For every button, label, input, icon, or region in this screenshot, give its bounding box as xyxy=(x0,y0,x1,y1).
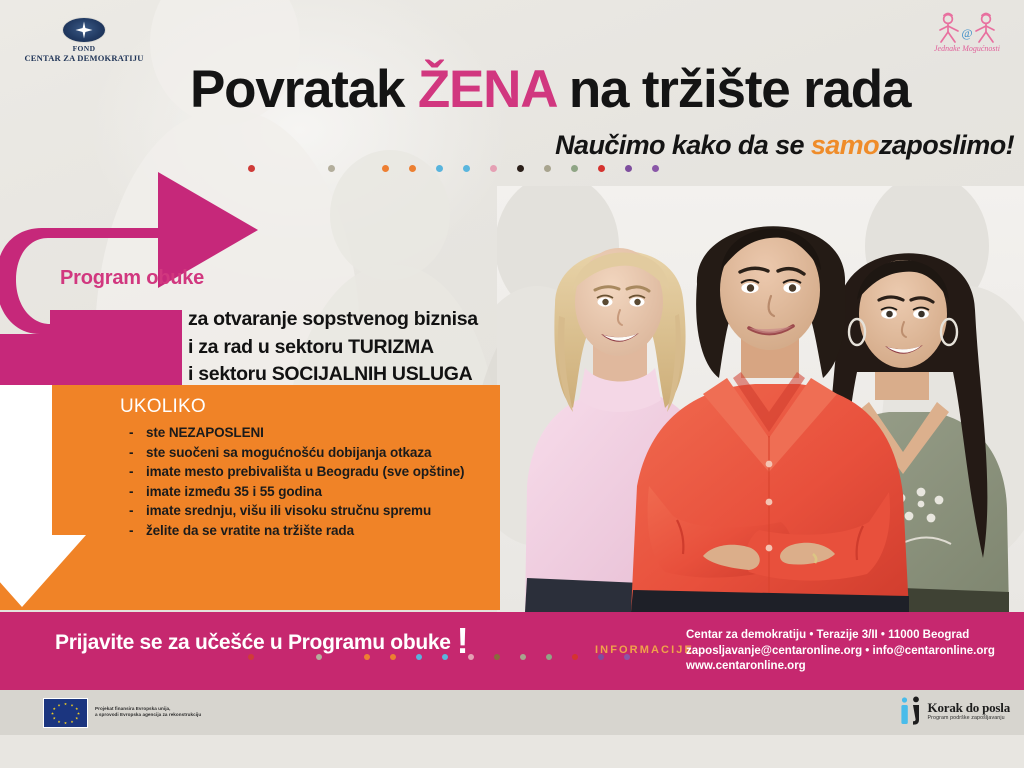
headline-pre: Povratak xyxy=(190,60,418,119)
program-obuke-label: Program obuke xyxy=(60,267,204,290)
contact-line-3: www.centaronline.org xyxy=(686,659,995,675)
magenta-accent-block xyxy=(50,310,182,390)
subhead-highlight: samo xyxy=(811,130,879,160)
logo-fcd-line1: FOND xyxy=(17,45,151,53)
korak-ij-icon xyxy=(898,696,924,726)
eu-star-icon xyxy=(58,720,61,723)
decorative-dot xyxy=(416,654,422,660)
decorative-dot xyxy=(494,654,500,660)
page-subtitle: Naučimo kako da se samozaposlimo! xyxy=(555,130,1014,161)
contact-line-2: zaposljavanje@centaronline.org • info@ce… xyxy=(686,644,995,660)
decorative-dot xyxy=(652,165,659,172)
eu-star-icon xyxy=(64,703,67,706)
star-emblem-icon xyxy=(62,17,106,43)
korak-title: Korak do posla xyxy=(928,701,1010,714)
decorative-dot xyxy=(463,165,470,172)
program-description-line-1: za otvaranje sopstvenog biznisa xyxy=(188,306,478,334)
logo-korak-do-posla: Korak do posla Program podrške zapošljav… xyxy=(898,694,1010,728)
svg-text:@: @ xyxy=(961,26,972,40)
program-description-line-2: i za rad u sektoru TURIZMA xyxy=(188,334,478,362)
decorative-dot xyxy=(571,165,578,172)
eu-star-icon xyxy=(53,707,56,710)
logo-jednake-mogucnosti: @ Jednake Mogućnosti xyxy=(928,12,1006,64)
decorative-dot xyxy=(625,165,632,172)
info-label: INFORMACIJE xyxy=(595,644,694,656)
decorative-dot-row-bottom xyxy=(248,654,630,660)
eu-star-icon xyxy=(51,712,54,715)
list-item: ste suočeni sa mogućnošću dobijanja otka… xyxy=(128,443,498,463)
decorative-dot xyxy=(572,654,578,660)
list-item: imate srednju, višu ili visoku stručnu s… xyxy=(128,501,498,521)
page-title: Povratak ŽENA na tržište rada xyxy=(190,62,1020,118)
list-item: imate između 35 i 55 godina xyxy=(128,482,498,502)
eu-funding-note: Projekat finansira Evropska unija, a spr… xyxy=(95,706,201,719)
contact-line-1: Centar za demokratiju • Terazije 3/II • … xyxy=(686,628,995,644)
subhead-pre: Naučimo kako da se xyxy=(555,130,811,160)
decorative-dot xyxy=(520,654,526,660)
conditions-list: ste NEZAPOSLENI ste suočeni sa mogućnošć… xyxy=(128,423,498,541)
eu-flag-icon xyxy=(43,698,88,728)
list-item: želite da se vratite na tržište rada xyxy=(128,521,498,541)
decorative-dot xyxy=(248,165,255,172)
eu-star-icon xyxy=(71,720,74,723)
decorative-dot xyxy=(544,165,551,172)
decorative-dot xyxy=(468,654,474,660)
eu-star-icon xyxy=(71,704,74,707)
two-figures-at-icon: @ xyxy=(928,12,1006,44)
decorative-dot xyxy=(517,165,524,172)
decorative-dot xyxy=(382,165,389,172)
decorative-dot xyxy=(490,165,497,172)
contact-info: Centar za demokratiju • Terazije 3/II • … xyxy=(686,628,995,675)
eu-star-icon xyxy=(58,704,61,707)
logo-fcd-line2: CENTAR ZA DEMOKRATIJU xyxy=(17,53,151,63)
logo-fond-centar-za-demokratiju: FOND CENTAR ZA DEMOKRATIJU xyxy=(17,17,151,61)
list-item: ste NEZAPOSLENI xyxy=(128,423,498,443)
headline-highlight: ŽENA xyxy=(418,60,556,119)
decorative-dot xyxy=(598,165,605,172)
eu-funding-line-2: a sprovodi Evropska agencija za rekonstr… xyxy=(95,712,201,718)
decorative-dot xyxy=(546,654,552,660)
logo-equal-label: Jednake Mogućnosti xyxy=(928,44,1006,53)
eu-star-icon xyxy=(53,717,56,720)
decorative-dot xyxy=(316,654,322,660)
subhead-post: zaposlimo! xyxy=(879,130,1014,160)
eu-star-icon xyxy=(77,712,80,715)
eu-star-icon xyxy=(64,722,67,725)
photo-three-women xyxy=(497,186,1024,612)
decorative-dot xyxy=(409,165,416,172)
decorative-dot xyxy=(390,654,396,660)
decorative-dot xyxy=(364,654,370,660)
decorative-dot xyxy=(328,165,335,172)
eu-star-icon xyxy=(75,707,78,710)
eu-star-icon xyxy=(75,717,78,720)
decorative-dot xyxy=(442,654,448,660)
decorative-dot xyxy=(248,654,254,660)
headline-post: na tržište rada xyxy=(555,60,910,119)
conditions-title: UKOLIKO xyxy=(120,396,206,418)
decorative-dot xyxy=(436,165,443,172)
white-down-arrow xyxy=(0,385,130,610)
list-item: imate mesto prebivališta u Beogradu (sve… xyxy=(128,462,498,482)
korak-subtitle: Program podrške zapošljavanju xyxy=(928,716,1010,721)
program-description: za otvaranje sopstvenog biznisa i za rad… xyxy=(188,306,478,389)
poster: FOND CENTAR ZA DEMOKRATIJU xyxy=(0,0,1024,768)
decorative-dot-row-top xyxy=(248,165,659,172)
cta-label: Prijavite se za učešće u Programu obuke xyxy=(55,631,451,654)
